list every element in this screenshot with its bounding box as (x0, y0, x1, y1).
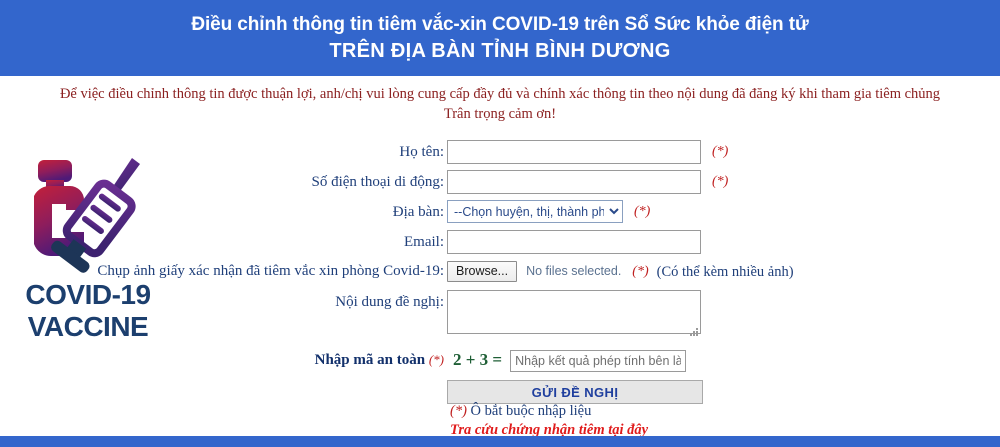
fullname-input[interactable] (447, 140, 701, 164)
form-row-photo-upload: Chụp ảnh giấy xác nhận đã tiêm vắc xin p… (0, 260, 1000, 284)
field-district: --Chọn huyện, thị, thành phố-- (447, 200, 623, 223)
photo-upload-note: (Có thể kèm nhiều ảnh) (657, 260, 794, 284)
subtitle-line-1: Để việc điều chỉnh thông tin được thuận … (0, 84, 1000, 104)
submit-request-button[interactable]: GỬI ĐỀ NGHỊ (447, 380, 703, 404)
label-email: Email: (0, 230, 447, 254)
email-input[interactable] (447, 230, 701, 254)
required-mark-phone: (*) (712, 170, 728, 194)
label-captcha: Nhập mã an toàn (*) (0, 347, 447, 373)
form-row-submit: GỬI ĐỀ NGHỊ (0, 380, 1000, 404)
field-fullname (447, 140, 701, 164)
required-mark-photo-upload: (*) (632, 260, 648, 284)
phone-input[interactable] (447, 170, 701, 194)
file-status-text: No files selected. (526, 264, 621, 278)
label-request-content: Nội dung đề nghị: (0, 290, 447, 314)
field-phone (447, 170, 701, 194)
required-mark-district: (*) (634, 200, 650, 224)
required-legend-text: Ô bắt buộc nhập liệu (467, 403, 591, 419)
district-select[interactable]: --Chọn huyện, thị, thành phố-- (447, 200, 623, 223)
file-input-control[interactable]: Browse... No files selected. (447, 260, 621, 282)
form-row-fullname: Họ tên: (*) (0, 140, 1000, 164)
label-fullname: Họ tên: (0, 140, 447, 164)
label-district: Địa bàn: (0, 200, 447, 224)
label-photo-upload: Chụp ảnh giấy xác nhận đã tiêm vắc xin p… (0, 260, 447, 282)
subtitle-block: Để việc điều chỉnh thông tin được thuận … (0, 84, 1000, 124)
form-row-request-content: Nội dung đề nghị: (0, 290, 1000, 339)
field-request-content (447, 290, 701, 339)
form-row-email: Email: (0, 230, 1000, 254)
page-title-line-2: TRÊN ĐỊA BÀN TỈNH BÌNH DƯƠNG (329, 38, 670, 64)
field-email (447, 230, 701, 254)
bottom-accent-bar (0, 436, 1000, 447)
form-row-district: Địa bàn: --Chọn huyện, thị, thành phố-- … (0, 200, 1000, 224)
textarea-wrapper (447, 290, 701, 339)
request-content-textarea[interactable] (447, 290, 701, 334)
adjustment-request-form: Họ tên: (*) Số điện thoại di động: (*) Đ… (0, 140, 1000, 410)
required-legend: (*) Ô bắt buộc nhập liệu (450, 403, 970, 420)
subtitle-line-2: Trân trọng cảm ơn! (0, 104, 1000, 124)
footer-notes: (*) Ô bắt buộc nhập liệu Tra cứu chứng n… (450, 403, 970, 439)
page-header: Điều chỉnh thông tin tiêm vắc-xin COVID-… (0, 0, 1000, 76)
required-mark-fullname: (*) (712, 140, 728, 164)
label-phone: Số điện thoại di động: (0, 170, 447, 194)
required-legend-mark: (*) (450, 403, 467, 419)
required-mark-captcha: (*) (429, 352, 444, 367)
browse-button[interactable]: Browse... (447, 261, 517, 282)
captcha-label-text: Nhập mã an toàn (315, 352, 425, 368)
form-row-captcha: Nhập mã an toàn (*) 2 + 3 = (0, 347, 1000, 373)
field-photo-upload: Browse... No files selected. (447, 260, 621, 282)
captcha-expression: 2 + 3 = (453, 347, 502, 373)
form-row-phone: Số điện thoại di động: (*) (0, 170, 1000, 194)
page-title-line-1: Điều chỉnh thông tin tiêm vắc-xin COVID-… (191, 12, 808, 38)
captcha-input[interactable] (510, 350, 686, 372)
